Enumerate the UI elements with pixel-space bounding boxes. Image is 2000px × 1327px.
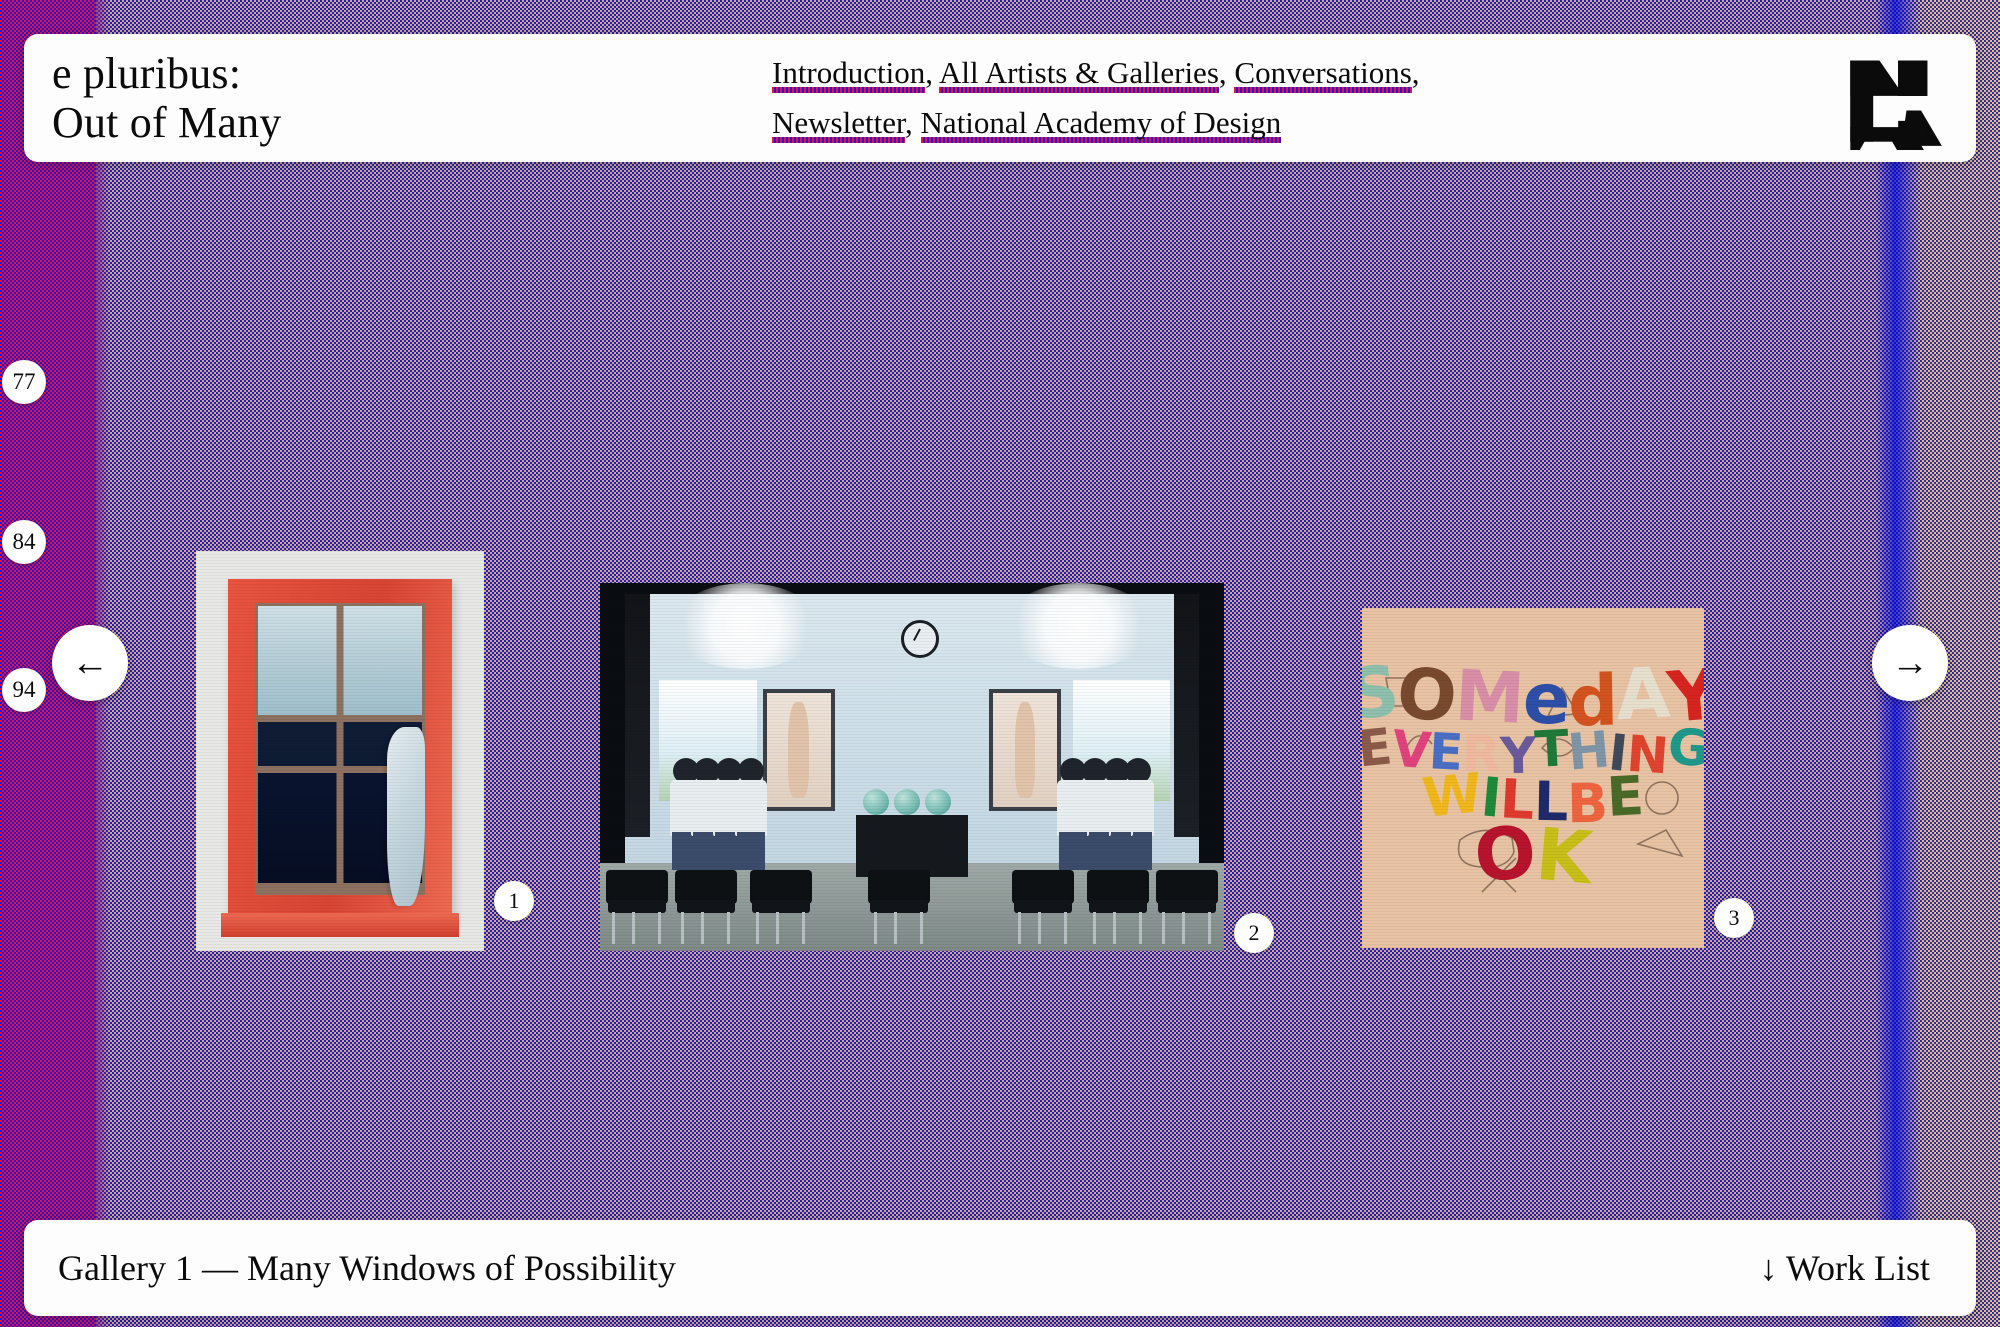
artwork-number-badge-2[interactable]: 2 (1234, 913, 1274, 953)
artwork-letter: H (1566, 727, 1611, 776)
artwork-item-2[interactable]: 2 (600, 583, 1224, 951)
artwork-letter: A (1614, 661, 1669, 728)
artwork-letter: E (1362, 724, 1393, 773)
nad-monogram-icon (1842, 46, 1946, 150)
nav-link-newsletter[interactable]: Newsletter (772, 105, 905, 143)
artwork-letter: E (1606, 771, 1644, 822)
artwork-number-badge-3[interactable]: 3 (1714, 898, 1754, 938)
artwork-text-line-1: SOMedAY (1368, 665, 1698, 729)
work-list-button[interactable]: ↓ Work List (1760, 1247, 1930, 1289)
window-red-frame (228, 579, 453, 923)
wall-clock-icon (901, 620, 939, 658)
nav-separator: , (925, 55, 939, 90)
artwork-letter: T (1534, 725, 1569, 773)
national-academy-of-design-logo[interactable] (1826, 46, 1946, 150)
artwork-letter: K (1533, 821, 1593, 892)
primary-navigation: Introduction, All Artists & Galleries, C… (692, 48, 1826, 148)
artwork-image-2 (600, 583, 1224, 951)
gallery-caption: Gallery 1 — Many Windows of Possibility (58, 1247, 676, 1289)
artwork-item-3[interactable]: SOMedAY EVERYTHING WILLBE OK 3 (1362, 608, 1704, 948)
header-bar: e pluribus: Out of Many Introduction, Al… (24, 34, 1976, 162)
artwork-letter: M (1453, 663, 1524, 731)
artwork-item-1[interactable]: 1 (196, 551, 484, 951)
nav-link-all-artists-galleries[interactable]: All Artists & Galleries (939, 55, 1219, 93)
nav-link-introduction[interactable]: Introduction (772, 55, 925, 93)
artwork-letter: O (1395, 660, 1458, 729)
wall-portrait-left (763, 689, 835, 811)
artwork-letter: G (1667, 725, 1704, 772)
footer-bar: Gallery 1 — Many Windows of Possibility … (24, 1220, 1976, 1316)
window-curtain (387, 727, 425, 906)
nav-link-conversations[interactable]: Conversations (1234, 55, 1411, 93)
nav-separator: , (1412, 55, 1420, 90)
artwork-image-3: SOMedAY EVERYTHING WILLBE OK (1362, 608, 1704, 948)
artwork-image-1 (196, 551, 484, 951)
wall-portrait-right (989, 689, 1061, 811)
timeline-year-77[interactable]: 77 (2, 360, 46, 404)
display-table (856, 815, 968, 878)
artwork-text-line-4: OK (1368, 825, 1698, 891)
app-root: e pluribus: Out of Many Introduction, Al… (0, 0, 2000, 1327)
nav-link-national-academy-of-design[interactable]: National Academy of Design (921, 105, 1282, 143)
artwork-number-badge-1[interactable]: 1 (494, 881, 534, 921)
artwork-letter: O (1472, 818, 1539, 890)
nav-separator: , (1219, 55, 1235, 90)
gallery-work-strip: 1 (0, 520, 2000, 940)
window-sill (221, 913, 459, 937)
nav-separator: , (905, 105, 921, 140)
page-title: e pluribus: Out of Many (52, 49, 692, 148)
